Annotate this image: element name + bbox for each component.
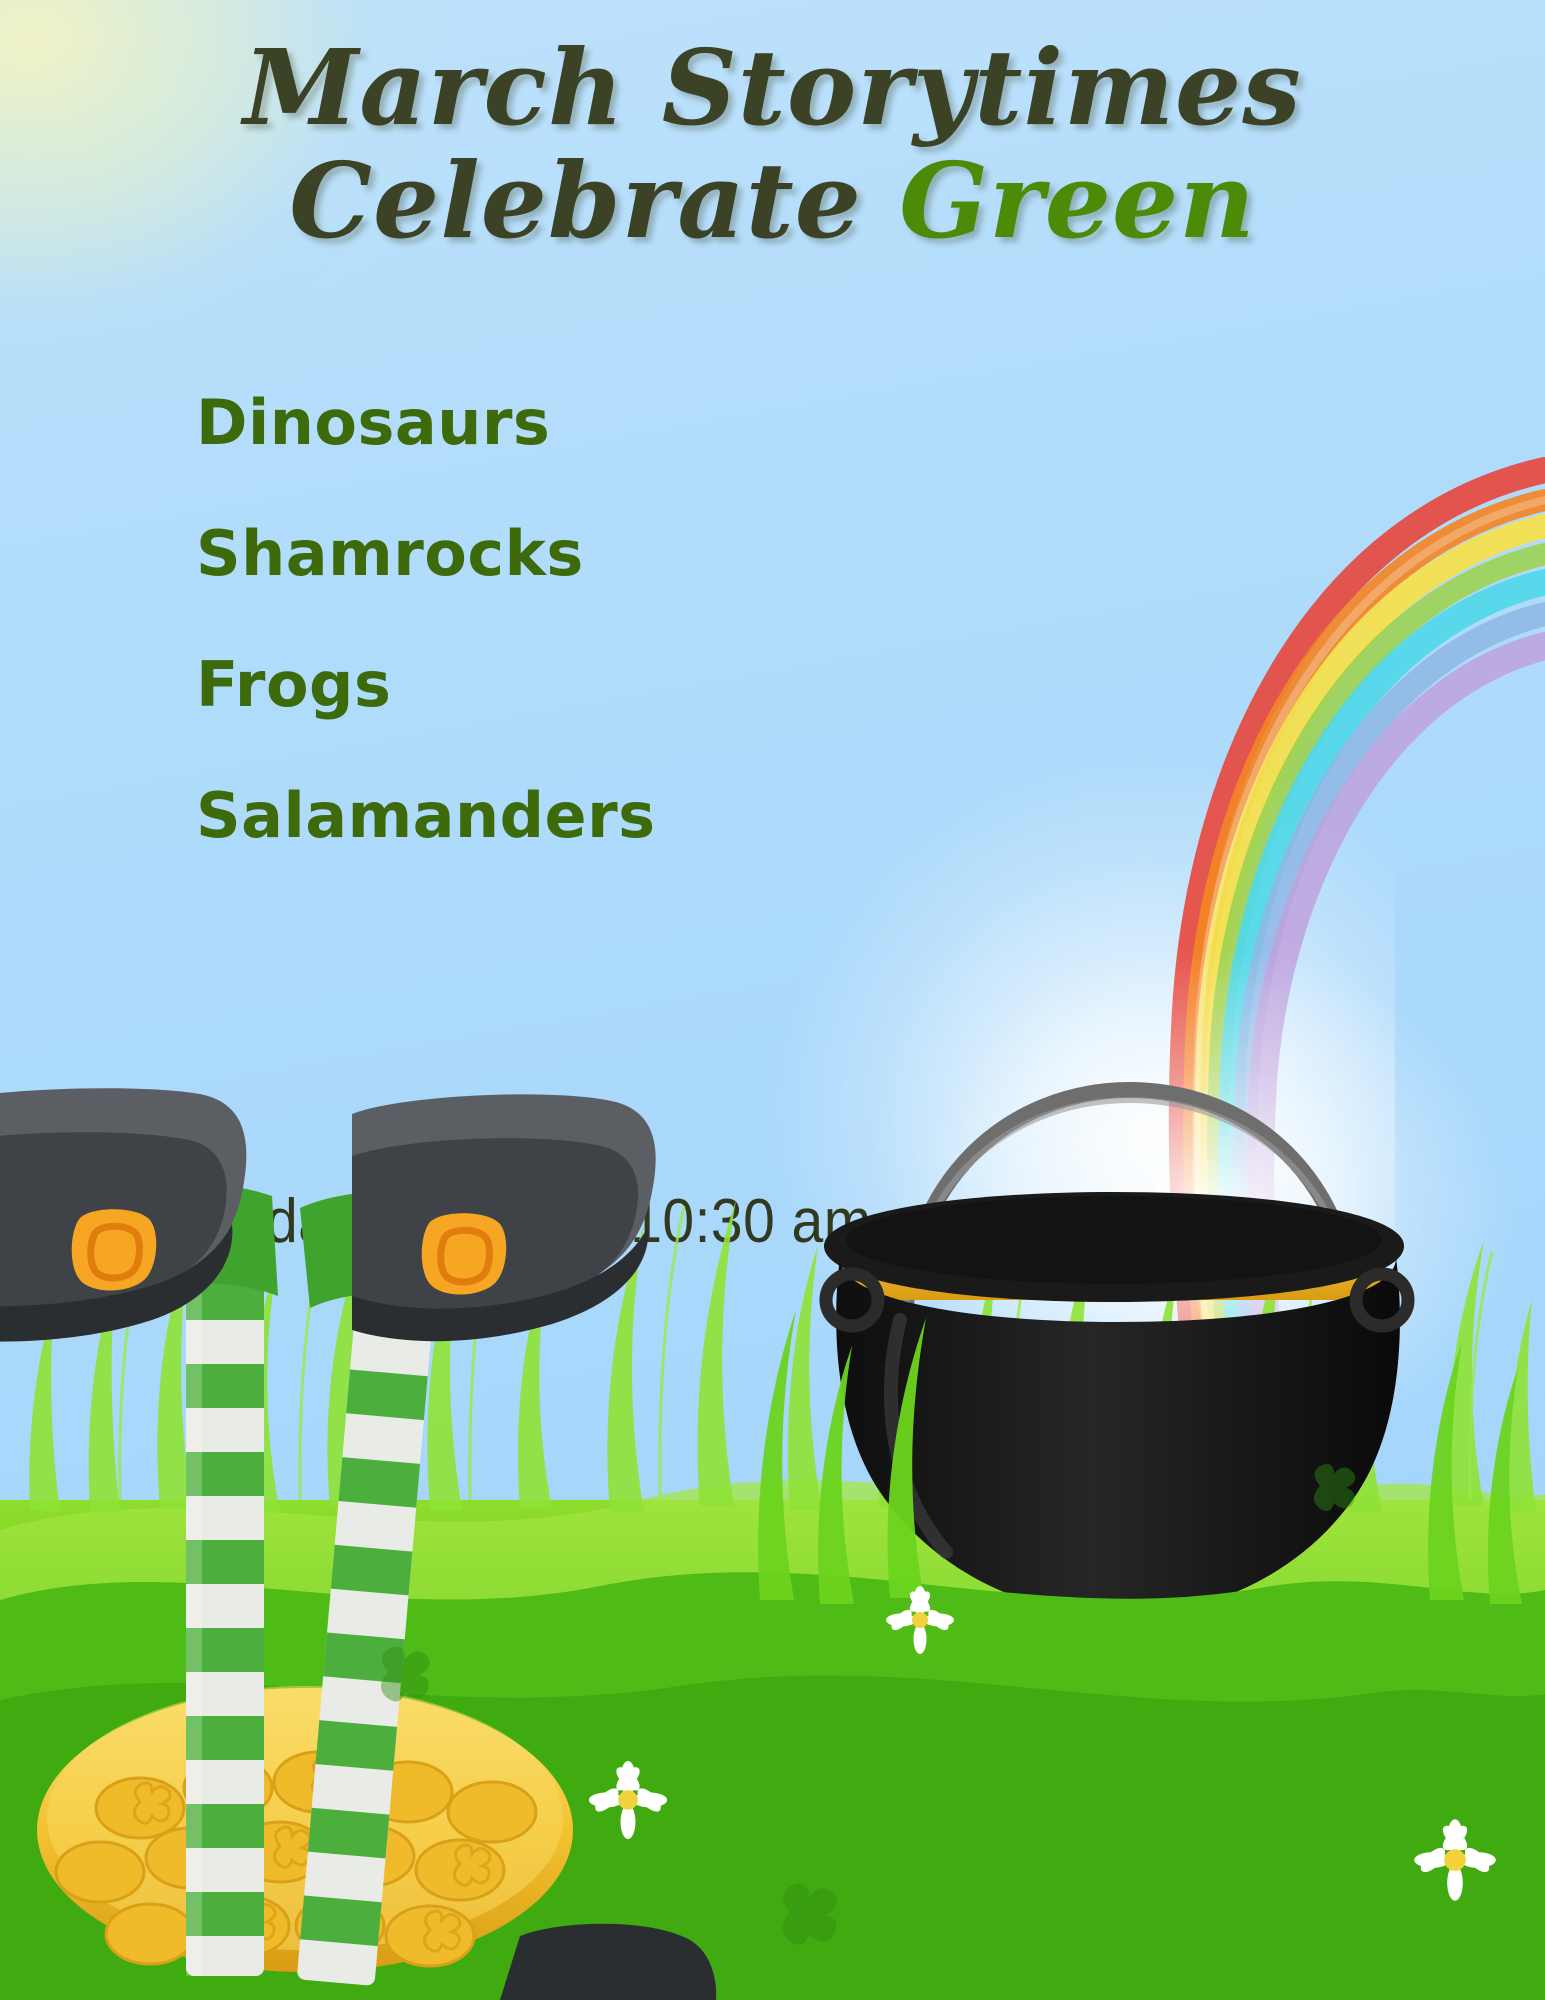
pot-gold-mound: [845, 1194, 1385, 1300]
poster-title: March Storytimes Celebrate Green: [0, 34, 1545, 254]
grass-band-back: [0, 1480, 1545, 2000]
topic-list: Dinosaurs Shamrocks Frogs Salamanders: [196, 392, 1096, 916]
pot-gold-nuggets: [874, 1193, 1346, 1287]
topic-item-salamanders: Salamanders: [196, 785, 1096, 847]
coin-shamrock-marks: [134, 1757, 490, 1951]
sock-stripes-left: [186, 1276, 264, 1936]
gold-sparkle-icon: [983, 1186, 1304, 1250]
title-line-1: March Storytimes: [0, 34, 1545, 141]
daisy: [589, 1761, 667, 1839]
title-line-2-dark: Celebrate: [289, 139, 899, 262]
pot-lug-left: [826, 1274, 878, 1326]
grass-blades-front: [758, 1310, 1522, 1604]
rainbow-foot-glow: [915, 950, 1515, 1470]
pot-lug-right: [1356, 1274, 1408, 1326]
topic-item-frogs: Frogs: [196, 654, 1096, 716]
clover-accents: [381, 1464, 1355, 1945]
coins: [56, 1752, 536, 1966]
sock-stripes-right: [300, 1282, 435, 1946]
daisy-flowers: [589, 1586, 1496, 1901]
topic-item-shamrocks: Shamrocks: [196, 523, 1096, 585]
pot-handle: [905, 1090, 1355, 1330]
grass-band-front: [0, 1572, 1545, 2000]
pot-of-gold: [824, 1090, 1408, 1616]
pot-body: [836, 1258, 1400, 1616]
daisy: [1414, 1819, 1496, 1901]
daisy: [886, 1586, 954, 1654]
pot-rim: [824, 1192, 1404, 1302]
schedule-text: Wednesday Mornings 10:30 am: [55, 1186, 872, 1257]
rainbow-arc: [1182, 470, 1545, 1480]
gold-coin-pile: [37, 1686, 573, 1972]
illustration-layer: [0, 0, 1545, 2000]
title-line-2: Celebrate Green: [0, 147, 1545, 254]
leprechaun-leg-right: [297, 1282, 436, 1986]
poster-canvas: March Storytimes Celebrate Green Dinosau…: [0, 0, 1545, 2000]
title-line-2-green: Green: [899, 139, 1256, 262]
leprechaun-leg-left: [186, 1276, 264, 1976]
shoe-bottom-center: [500, 1924, 716, 2000]
topic-item-dinosaurs: Dinosaurs: [196, 392, 1096, 454]
